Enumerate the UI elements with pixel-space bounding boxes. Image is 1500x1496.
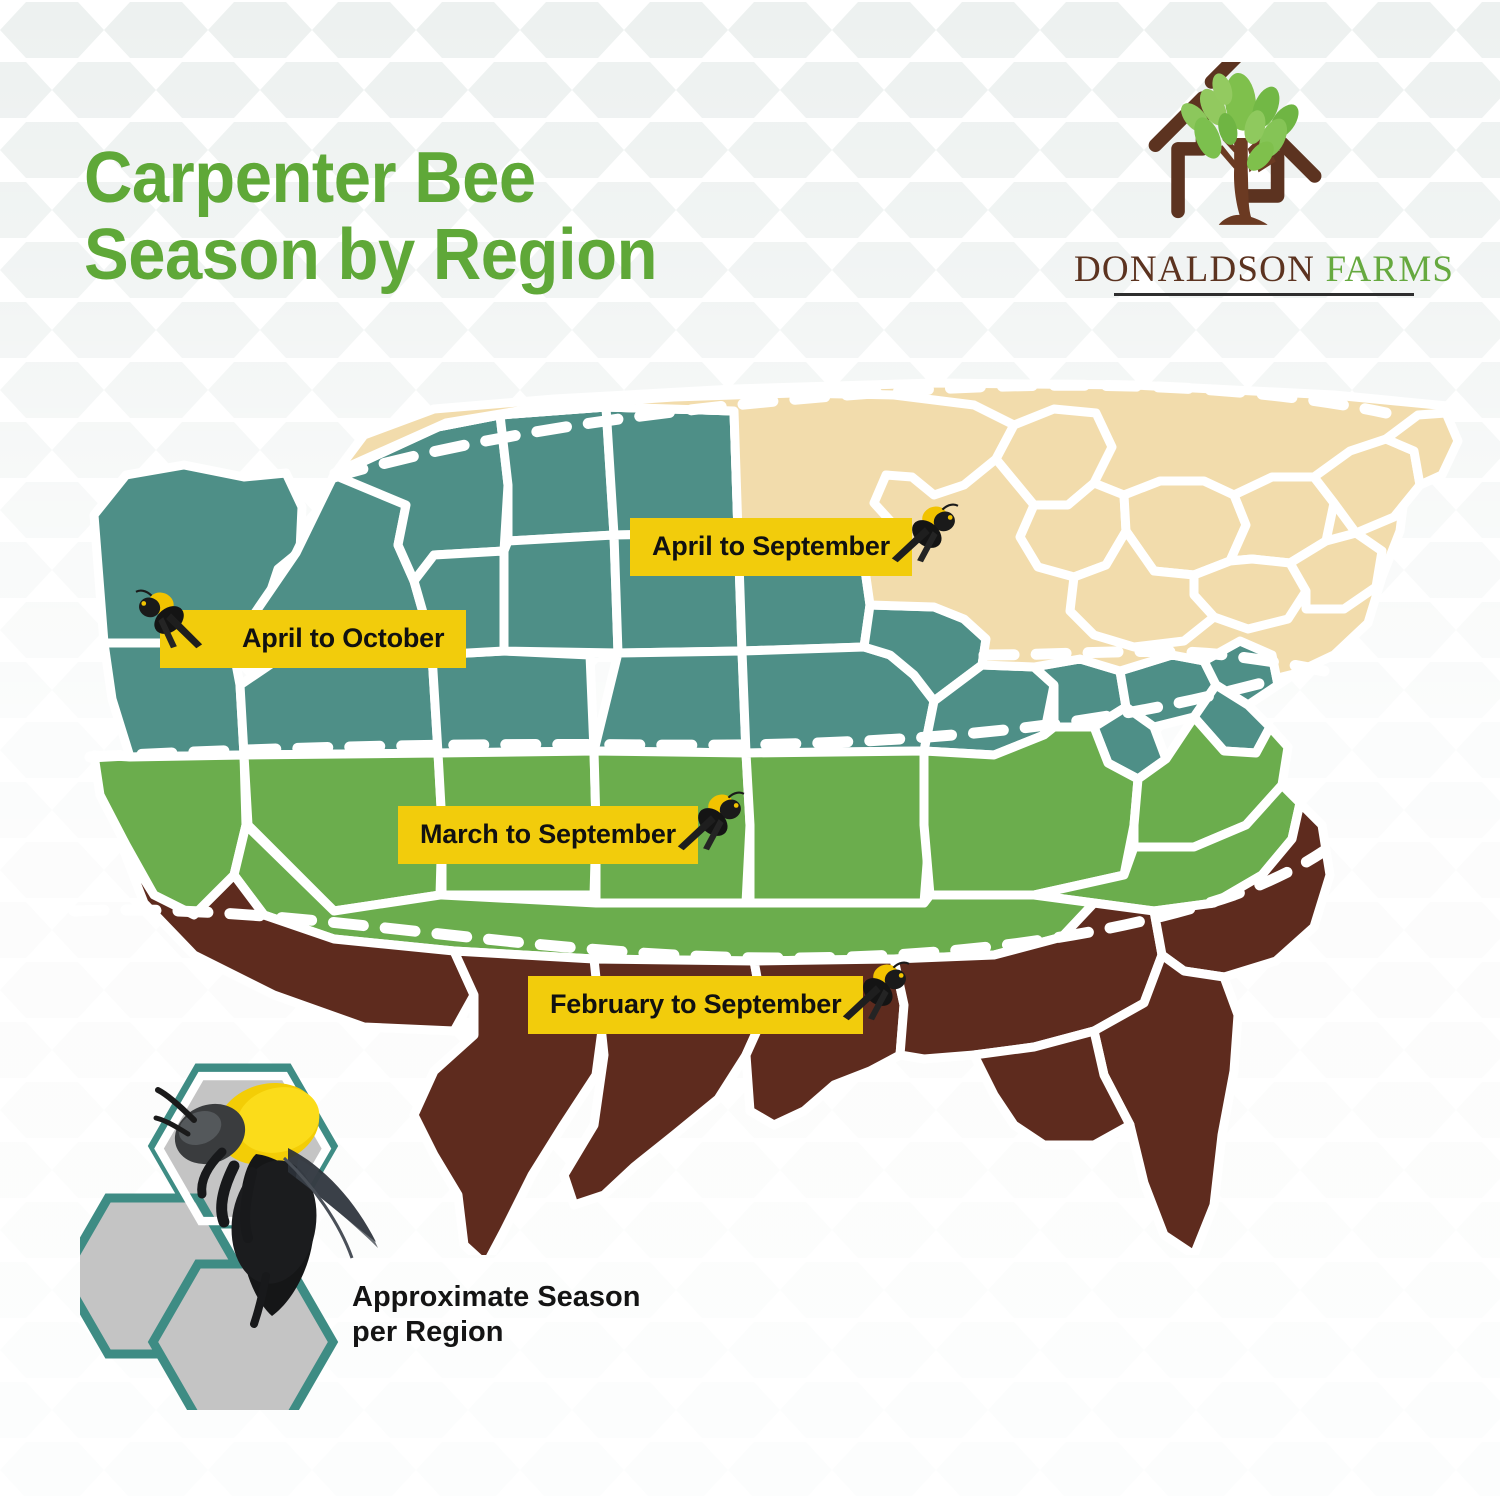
season-label-text: April to October: [242, 623, 444, 654]
brand-logo: DONALDSON FARMS: [1074, 62, 1454, 296]
season-label-text: March to September: [420, 819, 676, 850]
logo-underline: [1114, 293, 1414, 296]
season-label-april-september[interactable]: April to September: [630, 518, 912, 576]
season-label-april-october[interactable]: April to October: [160, 610, 466, 668]
logo-word-farms: FARMS: [1325, 249, 1454, 290]
season-label-march-september[interactable]: March to September: [398, 806, 698, 864]
title-block: Carpenter Bee Season by Region: [84, 140, 944, 294]
house-with-tree-logo-icon: [1144, 62, 1384, 252]
logo-word-donaldson: DONALDSON: [1074, 249, 1315, 290]
season-label-text: February to September: [550, 989, 841, 1020]
legend-block: Approximate Season per Region: [80, 1050, 700, 1430]
page-title: Carpenter Bee Season by Region: [84, 140, 884, 294]
legend-caption: Approximate Season per Region: [352, 1280, 682, 1351]
logo-wordmark: DONALDSON FARMS: [1074, 248, 1454, 291]
season-label-february-september[interactable]: February to September: [528, 976, 863, 1034]
season-label-text: April to September: [652, 531, 890, 562]
